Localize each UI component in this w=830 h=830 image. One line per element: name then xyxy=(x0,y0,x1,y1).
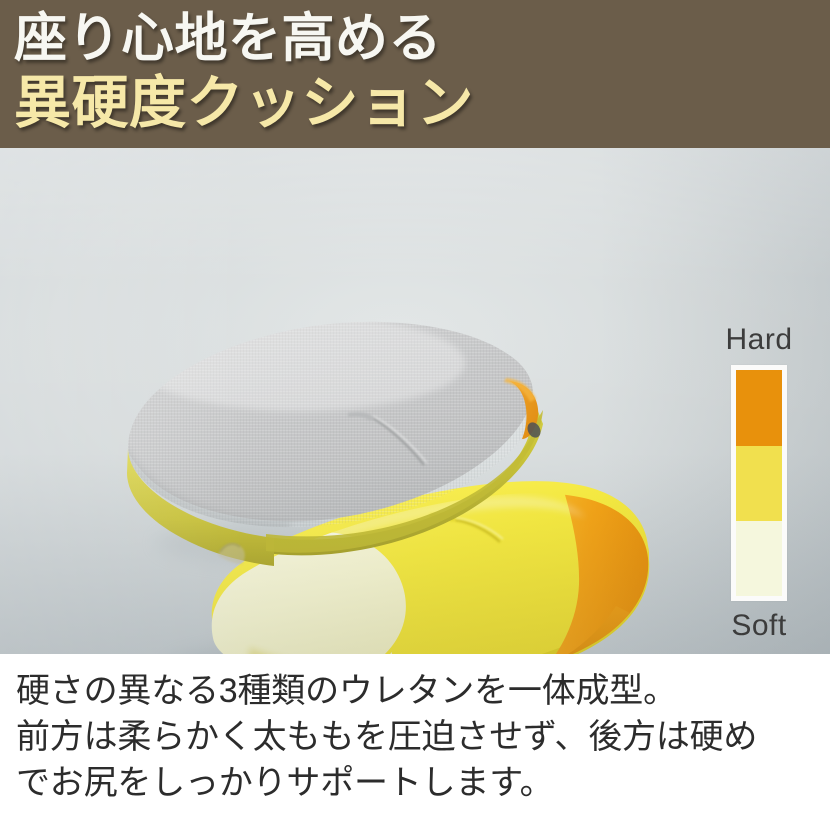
product-feature-panel: 座り心地を高める 異硬度クッション xyxy=(0,0,830,830)
header-title-line-1: 座り心地を高める xyxy=(14,8,442,70)
caption-line-1: 硬さの異なる3種類のウレタンを一体成型。 xyxy=(0,668,830,714)
hardness-legend: Hard Soft xyxy=(700,323,818,623)
caption-line-2: 前方は柔らかく太ももを圧迫させず、後方は硬め xyxy=(0,714,830,760)
header-band: 座り心地を高める 異硬度クッション xyxy=(0,0,830,148)
caption-block: 硬さの異なる3種類のウレタンを一体成型。 前方は柔らかく太ももを圧迫させず、後方… xyxy=(0,654,830,830)
legend-label-hard: Hard xyxy=(700,323,818,357)
legend-label-soft: Soft xyxy=(700,609,818,643)
legend-segment-soft xyxy=(736,521,782,596)
legend-segment-medium xyxy=(736,446,782,521)
header-title-line-2: 異硬度クッション xyxy=(14,70,474,136)
caption-line-3: でお尻をしっかりサポートします。 xyxy=(0,760,830,806)
legend-gradient-bar xyxy=(731,365,787,601)
fabric-highlight xyxy=(135,315,465,411)
product-image-stage: Hard Soft xyxy=(0,148,830,654)
legend-segment-hard xyxy=(736,370,782,446)
